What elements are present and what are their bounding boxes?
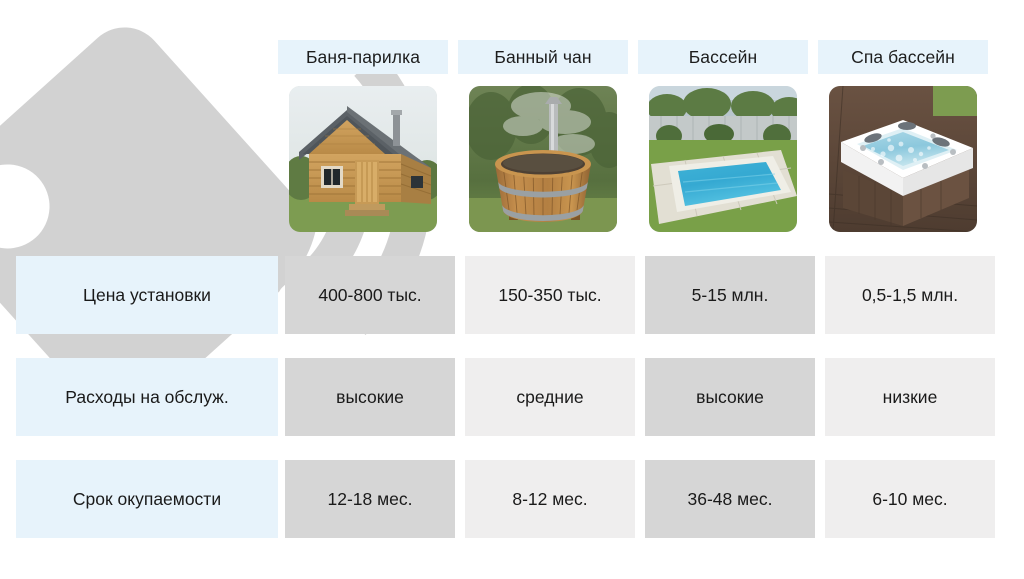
cell-value: высокие xyxy=(336,387,404,408)
cell-2-1: 8-12 мес. xyxy=(465,460,635,538)
row-gap xyxy=(815,460,825,538)
table-header-row: Баня-парилка Банный чан Бассейн Спа басс… xyxy=(0,40,1024,74)
cell-value: 8-12 мес. xyxy=(512,489,587,510)
row-gap xyxy=(278,256,285,334)
cell-0-3: 0,5-1,5 млн. xyxy=(825,256,995,334)
image-gap xyxy=(448,86,458,232)
column-header-1: Банный чан xyxy=(458,40,628,74)
row-label-0: Цена установки xyxy=(16,256,278,334)
row-gap xyxy=(815,358,825,436)
row-label-1: Расходы на обслуж. xyxy=(16,358,278,436)
row-gap xyxy=(455,256,465,334)
table-row: Расходы на обслуж. высокие средние высок… xyxy=(0,358,1024,436)
cell-value: 12-18 мес. xyxy=(328,489,413,510)
swimming-pool-photo xyxy=(649,86,797,232)
column-header-3: Спа бассейн xyxy=(818,40,988,74)
cell-1-3: низкие xyxy=(825,358,995,436)
image-cell-3 xyxy=(818,86,988,232)
row-label-text: Расходы на обслуж. xyxy=(65,387,228,408)
cell-2-3: 6-10 мес. xyxy=(825,460,995,538)
log-sauna-photo xyxy=(289,86,437,232)
header-gap xyxy=(808,40,818,74)
cell-value: 150-350 тыс. xyxy=(498,285,601,306)
table-row: Цена установки 400-800 тыс. 150-350 тыс.… xyxy=(0,256,1024,334)
image-cell-0 xyxy=(278,86,448,232)
cell-1-2: высокие xyxy=(645,358,815,436)
row-label-text: Срок окупаемости xyxy=(73,489,221,510)
cell-value: 36-48 мес. xyxy=(688,489,773,510)
header-corner-spacer xyxy=(0,40,278,74)
wooden-hot-tub-photo xyxy=(469,86,617,232)
table-row: Срок окупаемости 12-18 мес. 8-12 мес. 36… xyxy=(0,460,1024,538)
row-gap xyxy=(635,256,645,334)
column-header-label: Бассейн xyxy=(689,47,758,68)
cell-value: 5-15 млн. xyxy=(692,285,769,306)
cell-1-1: средние xyxy=(465,358,635,436)
cell-2-2: 36-48 мес. xyxy=(645,460,815,538)
column-header-label: Банный чан xyxy=(494,47,591,68)
row-gap xyxy=(635,460,645,538)
image-row-spacer xyxy=(0,86,278,232)
row-gap xyxy=(815,256,825,334)
row-label-text: Цена установки xyxy=(83,285,211,306)
header-gap xyxy=(448,40,458,74)
cell-value: высокие xyxy=(696,387,764,408)
cell-value: средние xyxy=(516,387,583,408)
column-header-label: Баня-парилка xyxy=(306,47,420,68)
cell-value: 400-800 тыс. xyxy=(318,285,421,306)
image-gap xyxy=(808,86,818,232)
cell-2-0: 12-18 мес. xyxy=(285,460,455,538)
cell-0-2: 5-15 млн. xyxy=(645,256,815,334)
table-image-row xyxy=(0,86,1024,232)
row-gap xyxy=(278,460,285,538)
row-gap xyxy=(278,358,285,436)
row-gap xyxy=(455,460,465,538)
comparison-table: Баня-парилка Банный чан Бассейн Спа басс… xyxy=(0,0,1024,579)
cell-value: 0,5-1,5 млн. xyxy=(862,285,958,306)
column-header-label: Спа бассейн xyxy=(851,47,955,68)
image-gap xyxy=(628,86,638,232)
column-header-2: Бассейн xyxy=(638,40,808,74)
cell-value: низкие xyxy=(883,387,938,408)
column-header-0: Баня-парилка xyxy=(278,40,448,74)
row-gap xyxy=(635,358,645,436)
spa-jacuzzi-photo xyxy=(829,86,977,232)
image-cell-2 xyxy=(638,86,808,232)
row-label-2: Срок окупаемости xyxy=(16,460,278,538)
header-gap xyxy=(628,40,638,74)
cell-0-1: 150-350 тыс. xyxy=(465,256,635,334)
cell-value: 6-10 мес. xyxy=(872,489,947,510)
cell-1-0: высокие xyxy=(285,358,455,436)
row-gap xyxy=(455,358,465,436)
image-cell-1 xyxy=(458,86,628,232)
cell-0-0: 400-800 тыс. xyxy=(285,256,455,334)
